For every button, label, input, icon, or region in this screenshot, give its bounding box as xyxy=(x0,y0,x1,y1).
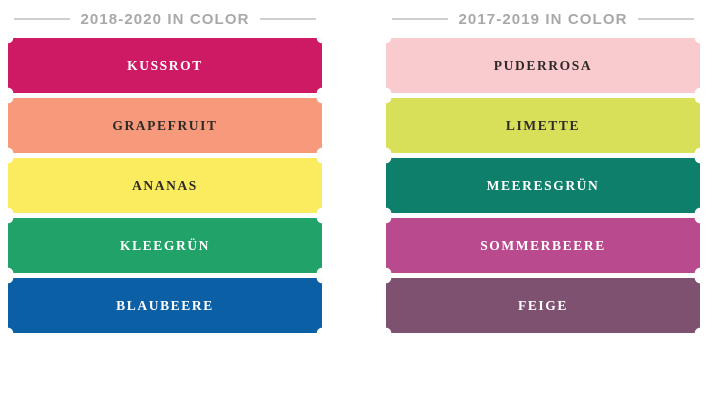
color-ticket[interactable]: SOMMERBEERE xyxy=(386,218,700,273)
rule-right-end xyxy=(638,18,694,20)
rule-left-end xyxy=(260,18,316,20)
column-header-right: 2017-2019 IN COLOR xyxy=(378,0,708,38)
color-ticket-label: LIMETTE xyxy=(506,118,580,134)
color-ticket-label: GRAPEFRUIT xyxy=(112,118,217,134)
color-ticket-label: BLAUBEERE xyxy=(116,298,214,314)
color-ticket-label: KLEEGRÜN xyxy=(120,238,210,254)
color-ticket-label: SOMMERBEERE xyxy=(480,238,606,254)
column-title-right: 2017-2019 IN COLOR xyxy=(458,11,627,28)
color-ticket[interactable]: ANANAS xyxy=(8,158,322,213)
color-ticket-label: FEIGE xyxy=(518,298,568,314)
ticket-list-right: PUDERROSA LIMETTE MEERESGRÜN SOMMERBEERE… xyxy=(378,38,708,333)
color-ticket[interactable]: GRAPEFRUIT xyxy=(8,98,322,153)
color-ticket[interactable]: PUDERROSA xyxy=(386,38,700,93)
palette-column-left: 2018-2020 IN COLOR KUSSROT GRAPEFRUIT AN… xyxy=(0,0,330,333)
color-ticket-label: MEERESGRÜN xyxy=(487,178,600,194)
color-ticket[interactable]: BLAUBEERE xyxy=(8,278,322,333)
color-palette-page: 2018-2020 IN COLOR KUSSROT GRAPEFRUIT AN… xyxy=(0,0,708,419)
color-ticket[interactable]: KUSSROT xyxy=(8,38,322,93)
rule-left-start xyxy=(14,18,70,20)
color-ticket[interactable]: LIMETTE xyxy=(386,98,700,153)
color-ticket-label: PUDERROSA xyxy=(494,58,592,74)
ticket-list-left: KUSSROT GRAPEFRUIT ANANAS KLEEGRÜN BLAUB… xyxy=(0,38,330,333)
color-ticket[interactable]: KLEEGRÜN xyxy=(8,218,322,273)
palette-column-right: 2017-2019 IN COLOR PUDERROSA LIMETTE MEE… xyxy=(378,0,708,333)
palette-columns: 2018-2020 IN COLOR KUSSROT GRAPEFRUIT AN… xyxy=(0,0,708,333)
color-ticket-label: ANANAS xyxy=(132,178,198,194)
color-ticket-label: KUSSROT xyxy=(127,58,203,74)
column-header-left: 2018-2020 IN COLOR xyxy=(0,0,330,38)
rule-right-start xyxy=(392,18,448,20)
color-ticket[interactable]: MEERESGRÜN xyxy=(386,158,700,213)
column-title-left: 2018-2020 IN COLOR xyxy=(80,11,249,28)
color-ticket[interactable]: FEIGE xyxy=(386,278,700,333)
